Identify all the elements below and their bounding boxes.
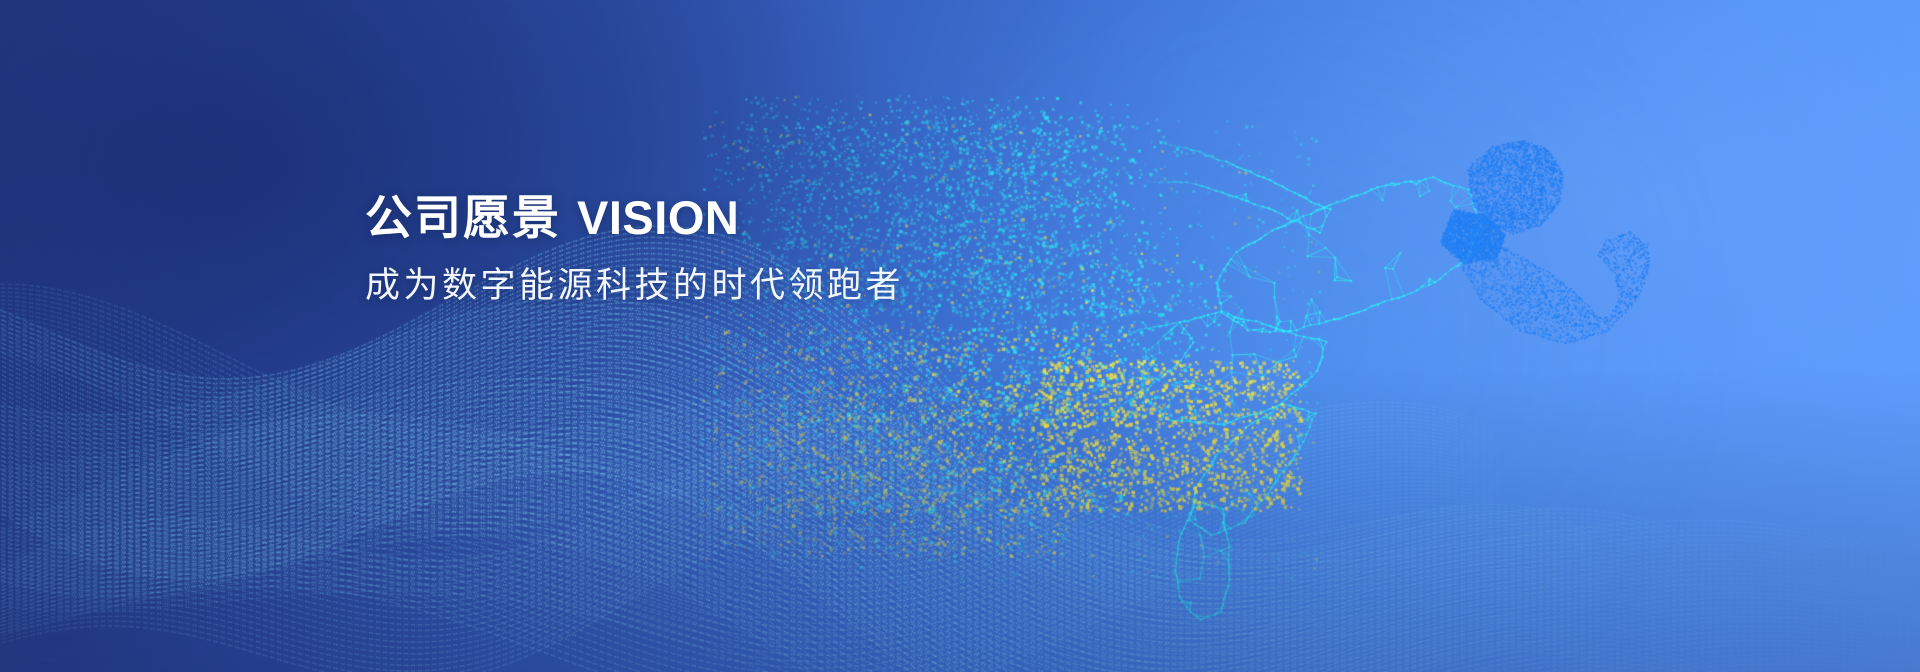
headline-chinese: 公司愿景 bbox=[365, 191, 561, 244]
banner-headline: 公司愿景VISION bbox=[365, 190, 904, 245]
banner-text-block: 公司愿景VISION 成为数字能源科技的时代领跑者 bbox=[365, 190, 904, 309]
vision-banner: 公司愿景VISION 成为数字能源科技的时代领跑者 bbox=[0, 0, 1920, 672]
banner-subline: 成为数字能源科技的时代领跑者 bbox=[365, 263, 904, 309]
background-gradient bbox=[0, 0, 1920, 672]
headline-english: VISION bbox=[577, 191, 739, 244]
